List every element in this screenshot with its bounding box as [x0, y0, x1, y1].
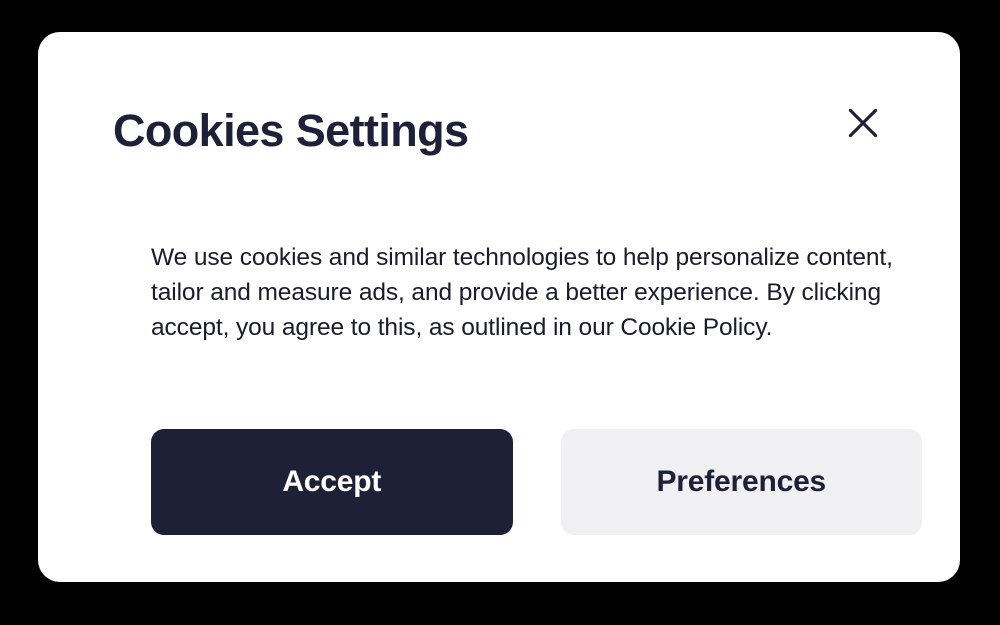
close-button[interactable] [841, 101, 885, 145]
cookies-settings-dialog: Cookies Settings We use cookies and simi… [38, 32, 960, 582]
dialog-actions: Accept Preferences [151, 429, 922, 535]
dialog-header: Cookies Settings [113, 100, 885, 162]
accept-button[interactable]: Accept [151, 429, 513, 535]
dialog-description-text: We use cookies and similar technologies … [151, 240, 935, 345]
dialog-title: Cookies Settings [113, 100, 468, 162]
dialog-description: We use cookies and similar technologies … [151, 240, 935, 345]
close-icon [848, 108, 878, 138]
page-background: Cookies Settings We use cookies and simi… [0, 0, 1000, 625]
preferences-button[interactable]: Preferences [561, 429, 923, 535]
